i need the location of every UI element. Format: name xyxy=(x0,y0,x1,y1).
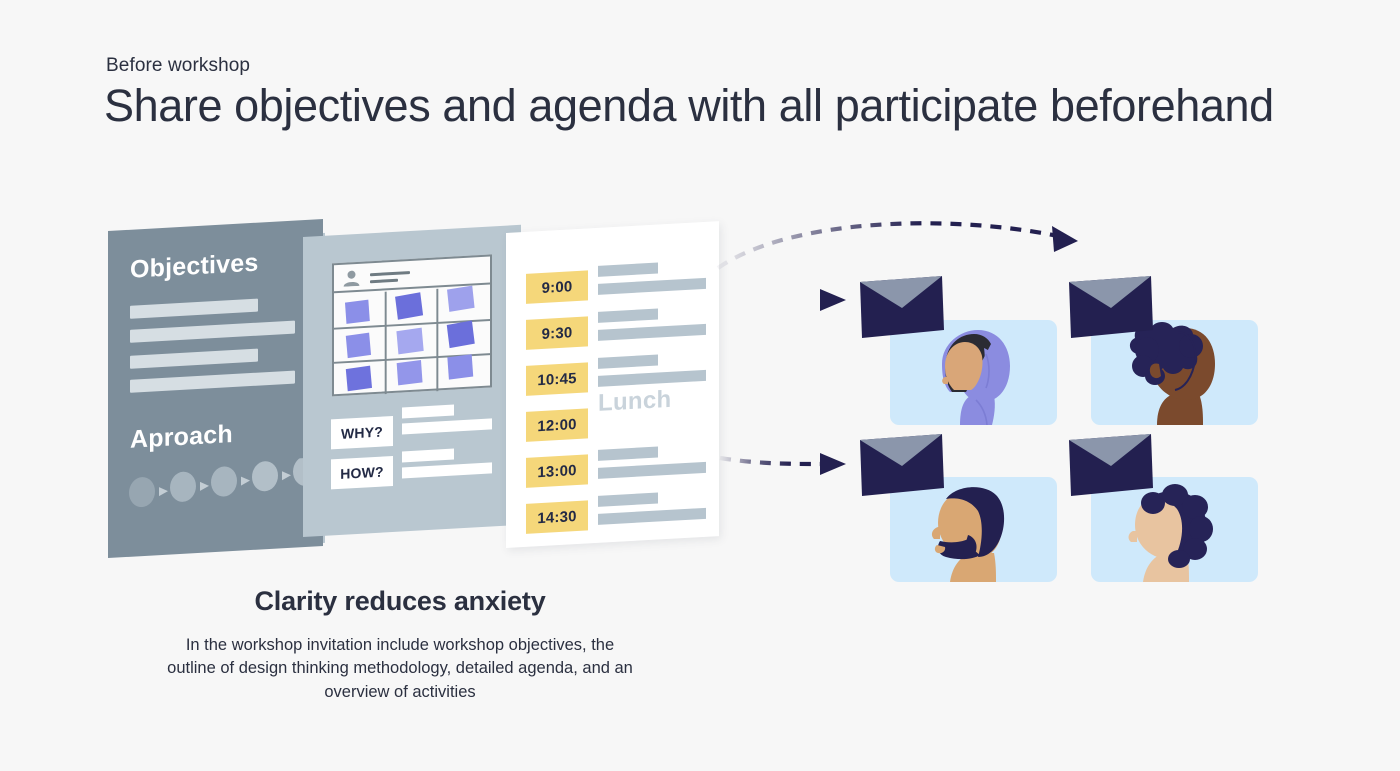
illustration-canvas: Before workshop Share objectives and age… xyxy=(0,0,1400,771)
text-placeholder-bar xyxy=(130,299,258,319)
agenda-placeholder-bar xyxy=(598,278,706,295)
agenda-time-chip: 10:45 xyxy=(526,362,588,395)
agenda-time-chip: 9:30 xyxy=(526,316,588,349)
method-placeholder-bar xyxy=(402,405,454,419)
sticky-note-board xyxy=(332,254,492,396)
arrow-path-bottom xyxy=(720,458,822,464)
method-placeholder-bar xyxy=(402,449,454,463)
lunch-label: Lunch xyxy=(598,386,672,418)
arrow-head-bottom xyxy=(820,453,846,475)
caption-title: Clarity reduces anxiety xyxy=(0,586,800,617)
agenda-placeholder-bar xyxy=(598,370,706,387)
text-placeholder-bar xyxy=(130,349,258,369)
agenda-time-chip: 12:00 xyxy=(526,408,588,441)
method-placeholder-bar xyxy=(402,462,492,478)
header-line xyxy=(370,271,410,276)
envelope-icon-3 xyxy=(860,434,944,496)
header-line xyxy=(370,279,398,284)
agenda-placeholder-bar xyxy=(598,324,706,341)
agenda-time-chip: 9:00 xyxy=(526,270,588,303)
agenda-placeholder-bar xyxy=(598,263,658,277)
agenda-placeholder-bar xyxy=(598,493,658,507)
envelope-icon-4 xyxy=(1069,434,1153,496)
text-placeholder-bar xyxy=(130,321,295,343)
agenda-placeholder-bar xyxy=(598,355,658,369)
why-chip: WHY? xyxy=(331,416,393,449)
agenda-time-chip: 13:00 xyxy=(526,454,588,487)
objectives-card: Objectives Aproach xyxy=(108,219,323,558)
approach-flow-diagram xyxy=(128,458,308,508)
person-icon xyxy=(343,270,360,287)
arrow-path-top xyxy=(718,223,1058,268)
envelope-icon-2 xyxy=(1069,276,1153,338)
method-card: WHY? HOW? xyxy=(303,225,521,537)
agenda-placeholder-bar xyxy=(598,309,658,323)
envelope-icon-1 xyxy=(860,276,944,338)
agenda-placeholder-bar xyxy=(598,447,658,461)
text-placeholder-bar xyxy=(130,371,295,393)
objectives-card-title: Objectives xyxy=(130,249,258,285)
method-placeholder-bar xyxy=(402,418,492,434)
agenda-placeholder-bar xyxy=(598,508,706,525)
agenda-card: 9:00 9:30 10:45 12:00 13:00 14:30 Lunch xyxy=(506,221,719,548)
how-chip: HOW? xyxy=(331,456,393,489)
caption-body: In the workshop invitation include works… xyxy=(160,634,640,704)
arrow-head-top xyxy=(1052,226,1078,252)
approach-card-title: Aproach xyxy=(130,420,233,455)
agenda-placeholder-bar xyxy=(598,462,706,479)
note-grid xyxy=(334,285,490,399)
arrow-head-middle xyxy=(820,289,846,311)
agenda-time-chip: 14:30 xyxy=(526,500,588,533)
